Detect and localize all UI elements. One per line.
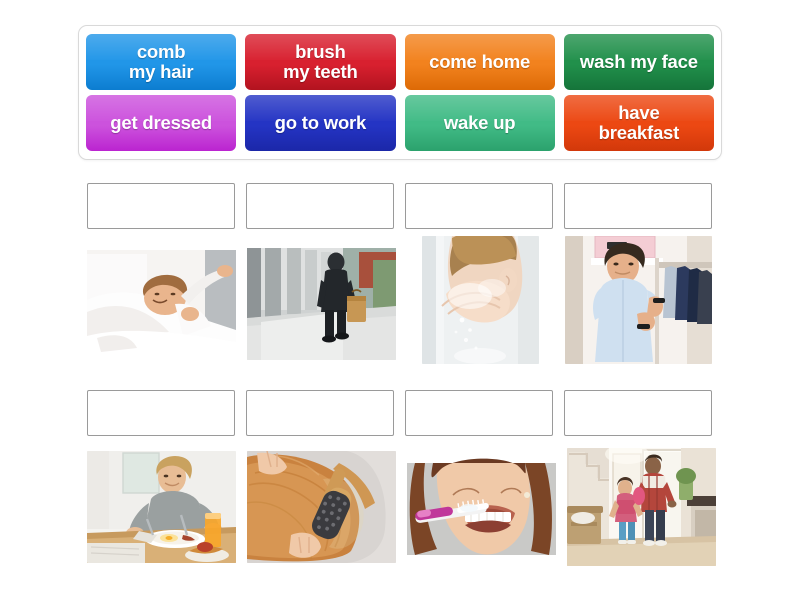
word-bank-row-2: get dressed go to work wake up havebreak… <box>86 95 714 151</box>
tile-brush-my-teeth[interactable]: brushmy teeth <box>245 34 395 90</box>
image-have-breakfast-graphic <box>87 451 236 563</box>
image-wake-up[interactable] <box>87 240 236 360</box>
drop-zone-4[interactable] <box>564 183 712 229</box>
image-wash-my-face[interactable] <box>407 240 554 360</box>
answer-row-2 <box>87 390 712 436</box>
tile-comb-my-hair[interactable]: combmy hair <box>86 34 236 90</box>
image-comb-my-hair-graphic <box>247 451 396 563</box>
drop-zone-5[interactable] <box>87 390 235 436</box>
answer-row-1 <box>87 183 712 229</box>
word-bank-row-1: combmy hair brushmy teeth come home wash… <box>86 34 714 90</box>
tile-wash-my-face[interactable]: wash my face <box>564 34 714 90</box>
tile-label: come home <box>429 52 530 72</box>
image-come-home-graphic <box>567 448 716 566</box>
tile-label: brushmy teeth <box>283 42 357 82</box>
image-wake-up-graphic <box>87 240 236 360</box>
image-get-dressed-graphic <box>565 236 712 364</box>
image-comb-my-hair[interactable] <box>247 447 396 567</box>
image-come-home[interactable] <box>567 447 716 567</box>
image-go-to-work-graphic <box>247 240 396 360</box>
tile-label: combmy hair <box>129 42 193 82</box>
tile-come-home[interactable]: come home <box>405 34 555 90</box>
image-have-breakfast[interactable] <box>87 447 236 567</box>
tile-label: havebreakfast <box>599 103 679 143</box>
image-get-dressed[interactable] <box>565 240 712 360</box>
drop-zone-3[interactable] <box>405 183 553 229</box>
drop-zone-8[interactable] <box>564 390 712 436</box>
image-brush-my-teeth-graphic <box>407 455 556 559</box>
tile-label: wake up <box>444 113 516 133</box>
picture-row-2 <box>87 447 712 567</box>
tile-label: go to work <box>275 113 367 133</box>
tile-have-breakfast[interactable]: havebreakfast <box>564 95 714 151</box>
drop-zone-6[interactable] <box>246 390 394 436</box>
tile-wake-up[interactable]: wake up <box>405 95 555 151</box>
drop-zone-2[interactable] <box>246 183 394 229</box>
activity-stage: combmy hair brushmy teeth come home wash… <box>0 0 800 600</box>
drop-zone-7[interactable] <box>405 390 553 436</box>
word-bank: combmy hair brushmy teeth come home wash… <box>78 25 722 160</box>
image-wash-my-face-graphic <box>422 236 539 364</box>
image-brush-my-teeth[interactable] <box>407 447 556 567</box>
tile-get-dressed[interactable]: get dressed <box>86 95 236 151</box>
image-go-to-work[interactable] <box>247 240 396 360</box>
drop-zone-1[interactable] <box>87 183 235 229</box>
tile-label: get dressed <box>110 113 212 133</box>
picture-row-1 <box>87 240 712 360</box>
tile-go-to-work[interactable]: go to work <box>245 95 395 151</box>
tile-label: wash my face <box>580 52 698 72</box>
